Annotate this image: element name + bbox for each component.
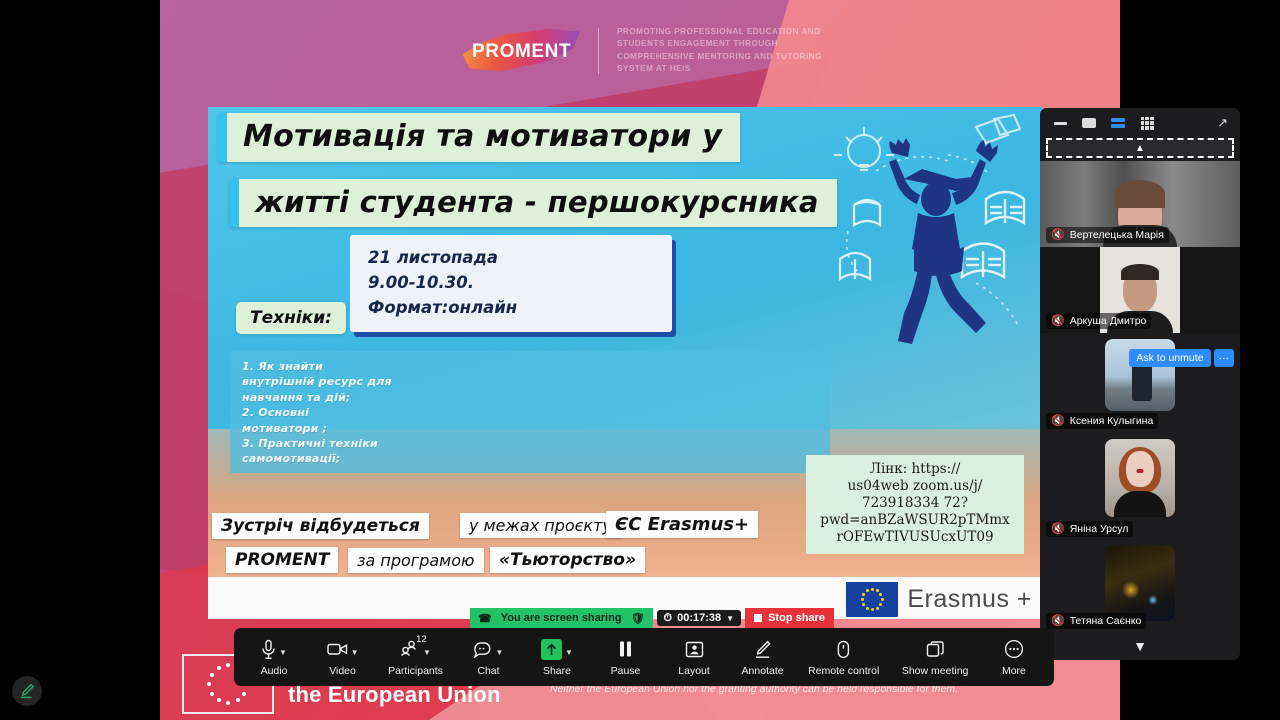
link-line: pwd=anBZaWSUR2pTMmx xyxy=(812,512,1018,529)
chevron-down-icon: ▼ xyxy=(1133,638,1147,654)
slide-date: 21 листопада xyxy=(368,245,656,270)
header-divider xyxy=(598,28,599,74)
participant-name-badge: 🔇 Яніна Урсул xyxy=(1046,521,1133,537)
proment-logo-text: PROMENT xyxy=(472,41,571,63)
statement-2b: за програмою xyxy=(348,548,484,573)
collapse-strip-button[interactable]: ▲ xyxy=(1046,138,1234,158)
zoom-meeting-window: PROMENT PROMOTING PROFESSIONAL EDUCATION… xyxy=(0,0,1280,720)
participant-name: Аркуша Дмитро xyxy=(1070,315,1147,327)
toolbar-remote-control-button[interactable]: Remote control xyxy=(805,637,882,677)
statement-1a: Зустріч відбудеться xyxy=(212,513,429,539)
shield-icon: 🛡 xyxy=(631,612,645,625)
toolbar-chat-button[interactable]: ▼ Chat xyxy=(462,637,514,677)
toolbar-more-button[interactable]: More xyxy=(988,637,1040,677)
eu-funded-text: the European Union xyxy=(288,682,501,714)
chevron-down-icon[interactable]: ▼ xyxy=(351,648,359,657)
chevron-up-icon: ▲ xyxy=(1135,143,1145,154)
technique-line: навчання та дій; xyxy=(242,390,830,405)
technique-line: 2. Основні xyxy=(242,405,830,420)
phone-icon: ☎ xyxy=(478,612,492,625)
header-tagline: PROMOTING PROFESSIONAL EDUCATION AND STU… xyxy=(617,26,847,76)
statement-2c: «Тьюторство» xyxy=(490,547,645,573)
share-status-group: ☎ You are screen sharing 🛡 xyxy=(470,608,653,628)
stop-square-icon xyxy=(754,614,762,622)
participant-name-badge: 🔇 Ксения Кулыгина xyxy=(1046,413,1158,429)
link-line: Лінк: https:// xyxy=(812,461,1018,478)
participant-tile[interactable]: 🔇 Вертелецька Марія xyxy=(1040,161,1240,247)
slide-format: Формат:онлайн xyxy=(368,295,656,320)
slide-info-card: 21 листопада 9.00-10.30. Формат:онлайн xyxy=(350,235,672,332)
statement-1b: у межах проєкту xyxy=(460,513,621,538)
expand-arrow-icon[interactable]: ↗ xyxy=(1217,115,1228,131)
statement-1c: ЄС Erasmus+ xyxy=(606,511,758,538)
share-up-arrow-icon xyxy=(541,637,562,661)
technique-line: мотиватори ; xyxy=(242,421,830,436)
screen-share-banner: ☎ You are screen sharing 🛡 ⏱ 00:17:38 ▼ … xyxy=(470,608,834,628)
slide-time: 9.00-10.30. xyxy=(368,270,656,295)
participant-name: Тетяна Саєнко xyxy=(1070,615,1142,627)
technique-line: внутрішній ресурс для xyxy=(242,374,830,389)
meeting-toolbar: ▼ Audio ▼ Video 12 xyxy=(234,628,1054,686)
presentation-slide: Мотивація та мотиватори у житті студента… xyxy=(208,107,1042,619)
deck-header: PROMENT PROMOTING PROFESSIONAL EDUCATION… xyxy=(460,26,847,76)
techniques-label: Техніки: xyxy=(236,302,346,334)
participant-name-badge: 🔇 Тетяна Саєнко xyxy=(1046,613,1146,629)
toolbar-pause-button[interactable]: Pause xyxy=(600,637,652,677)
participant-name-badge: 🔇 Вертелецька Марія xyxy=(1046,227,1169,243)
toolbar-label: Show meeting xyxy=(902,665,969,677)
link-line: rOFEwTIVUSUcxUT09 xyxy=(812,529,1018,546)
clock-icon: ⏱ xyxy=(664,612,673,625)
erasmus-logo-text: Erasmus + xyxy=(907,585,1032,614)
link-line: us04web zoom.us/j/ xyxy=(812,478,1018,495)
toolbar-label: Annotate xyxy=(742,665,784,677)
toolbar-audio-button[interactable]: ▼ Audio xyxy=(248,637,300,677)
ellipsis-icon xyxy=(1004,637,1024,661)
speaker-view-icon[interactable] xyxy=(1081,116,1097,130)
toolbar-label: Pause xyxy=(611,665,641,677)
statement-2a: PROMENT xyxy=(226,547,338,573)
participant-name-badge: 🔇 Аркуша Дмитро xyxy=(1046,313,1151,329)
link-line: 723918334 72? xyxy=(812,495,1018,512)
meeting-link-box: Лінк: https:// us04web zoom.us/j/ 723918… xyxy=(806,455,1024,554)
participants-count-badge: 12 xyxy=(416,634,427,645)
jumping-student-illustration xyxy=(826,113,1036,361)
proment-logo: PROMENT xyxy=(460,33,580,69)
muted-microphone-icon: 🔇 xyxy=(1051,228,1065,241)
stop-share-label: Stop share xyxy=(768,612,825,624)
muted-microphone-icon: 🔇 xyxy=(1051,414,1065,427)
strip-view-icon[interactable] xyxy=(1110,116,1126,130)
participant-hover-actions[interactable]: Ask to unmute ··· xyxy=(1129,349,1234,367)
video-layout-toolbar: ↗ xyxy=(1040,108,1240,138)
toolbar-layout-button[interactable]: Layout xyxy=(668,637,720,677)
toolbar-video-button[interactable]: ▼ Video xyxy=(317,637,369,677)
toolbar-label: Layout xyxy=(678,665,710,677)
share-timer[interactable]: ⏱ 00:17:38 ▼ xyxy=(657,610,742,626)
mouse-icon xyxy=(837,637,850,661)
muted-microphone-icon: 🔇 xyxy=(1051,614,1065,627)
slide-title-line-1: Мотивація та мотиватори у xyxy=(218,113,740,162)
chevron-down-icon[interactable]: ▼ xyxy=(423,648,431,657)
chevron-down-icon[interactable]: ▼ xyxy=(726,614,734,623)
grid-view-icon[interactable] xyxy=(1139,116,1155,130)
chevron-down-icon[interactable]: ▼ xyxy=(279,648,287,657)
muted-microphone-icon: 🔇 xyxy=(1051,522,1065,535)
techniques-list: 1. Як знайти внутрішній ресурс для навча… xyxy=(230,351,830,473)
toolbar-label: More xyxy=(1002,665,1026,677)
camera-icon xyxy=(327,637,348,661)
chevron-down-icon[interactable]: ▼ xyxy=(495,648,503,657)
technique-line: самомотивації; xyxy=(242,451,830,466)
floating-annotate-button[interactable] xyxy=(12,676,42,706)
scroll-participants-down-button[interactable]: ▼ xyxy=(1040,632,1240,660)
pencil-icon xyxy=(19,683,35,699)
share-status-text: You are screen sharing xyxy=(501,612,622,624)
toolbar-label: Video xyxy=(329,665,356,677)
participant-tile[interactable]: 🔇 Тетяна Саєнко xyxy=(1040,541,1240,633)
stop-share-button[interactable]: Stop share xyxy=(745,608,834,628)
chat-icon xyxy=(473,637,492,661)
pause-icon xyxy=(618,637,633,661)
toolbar-label: Chat xyxy=(477,665,499,677)
toolbar-label: Remote control xyxy=(808,665,879,677)
participant-name: Вертелецька Марія xyxy=(1070,229,1164,241)
toolbar-show-meeting-button[interactable]: Show meeting xyxy=(899,637,972,677)
erasmus-logo: Erasmus + xyxy=(846,582,1032,617)
muted-microphone-icon: 🔇 xyxy=(1051,314,1065,327)
pencil-icon xyxy=(754,637,771,661)
participant-name: Яніна Урсул xyxy=(1070,523,1129,535)
participant-tile[interactable]: Ask to unmute ··· 🔇 Ксения Кулыгина xyxy=(1040,333,1240,435)
toolbar-share-button[interactable]: ▼ Share xyxy=(531,637,583,677)
toolbar-participants-button[interactable]: 12 ▼ Participants xyxy=(385,637,446,677)
toolbar-annotate-button[interactable]: Annotate xyxy=(737,637,789,677)
participant-tile[interactable]: 🔇 Яніна Урсул xyxy=(1040,435,1240,541)
eu-flag-icon xyxy=(846,582,898,617)
participant-tile[interactable]: 🔇 Аркуша Дмитро xyxy=(1040,247,1240,333)
minimize-icon[interactable] xyxy=(1052,116,1068,130)
chevron-down-icon[interactable]: ▼ xyxy=(565,648,573,657)
ask-to-unmute-button[interactable]: Ask to unmute xyxy=(1129,349,1210,367)
participant-more-button[interactable]: ··· xyxy=(1214,349,1235,367)
toolbar-label: Share xyxy=(543,665,571,677)
share-timer-text: 00:17:38 xyxy=(677,612,721,624)
participant-video-strip: ↗ ▲ 🔇 Вертелецька Марія xyxy=(1040,108,1240,660)
layout-icon xyxy=(685,637,704,661)
microphone-icon xyxy=(261,637,276,661)
slide-title-line-2: житті студента - першокурсника xyxy=(230,179,837,227)
toolbar-label: Audio xyxy=(261,665,288,677)
technique-line: 1. Як знайти xyxy=(242,359,830,374)
windows-icon xyxy=(926,637,945,661)
technique-line: 3. Практичні техніки xyxy=(242,436,830,451)
participant-name: Ксения Кулыгина xyxy=(1070,415,1154,427)
toolbar-label: Participants xyxy=(388,665,443,677)
